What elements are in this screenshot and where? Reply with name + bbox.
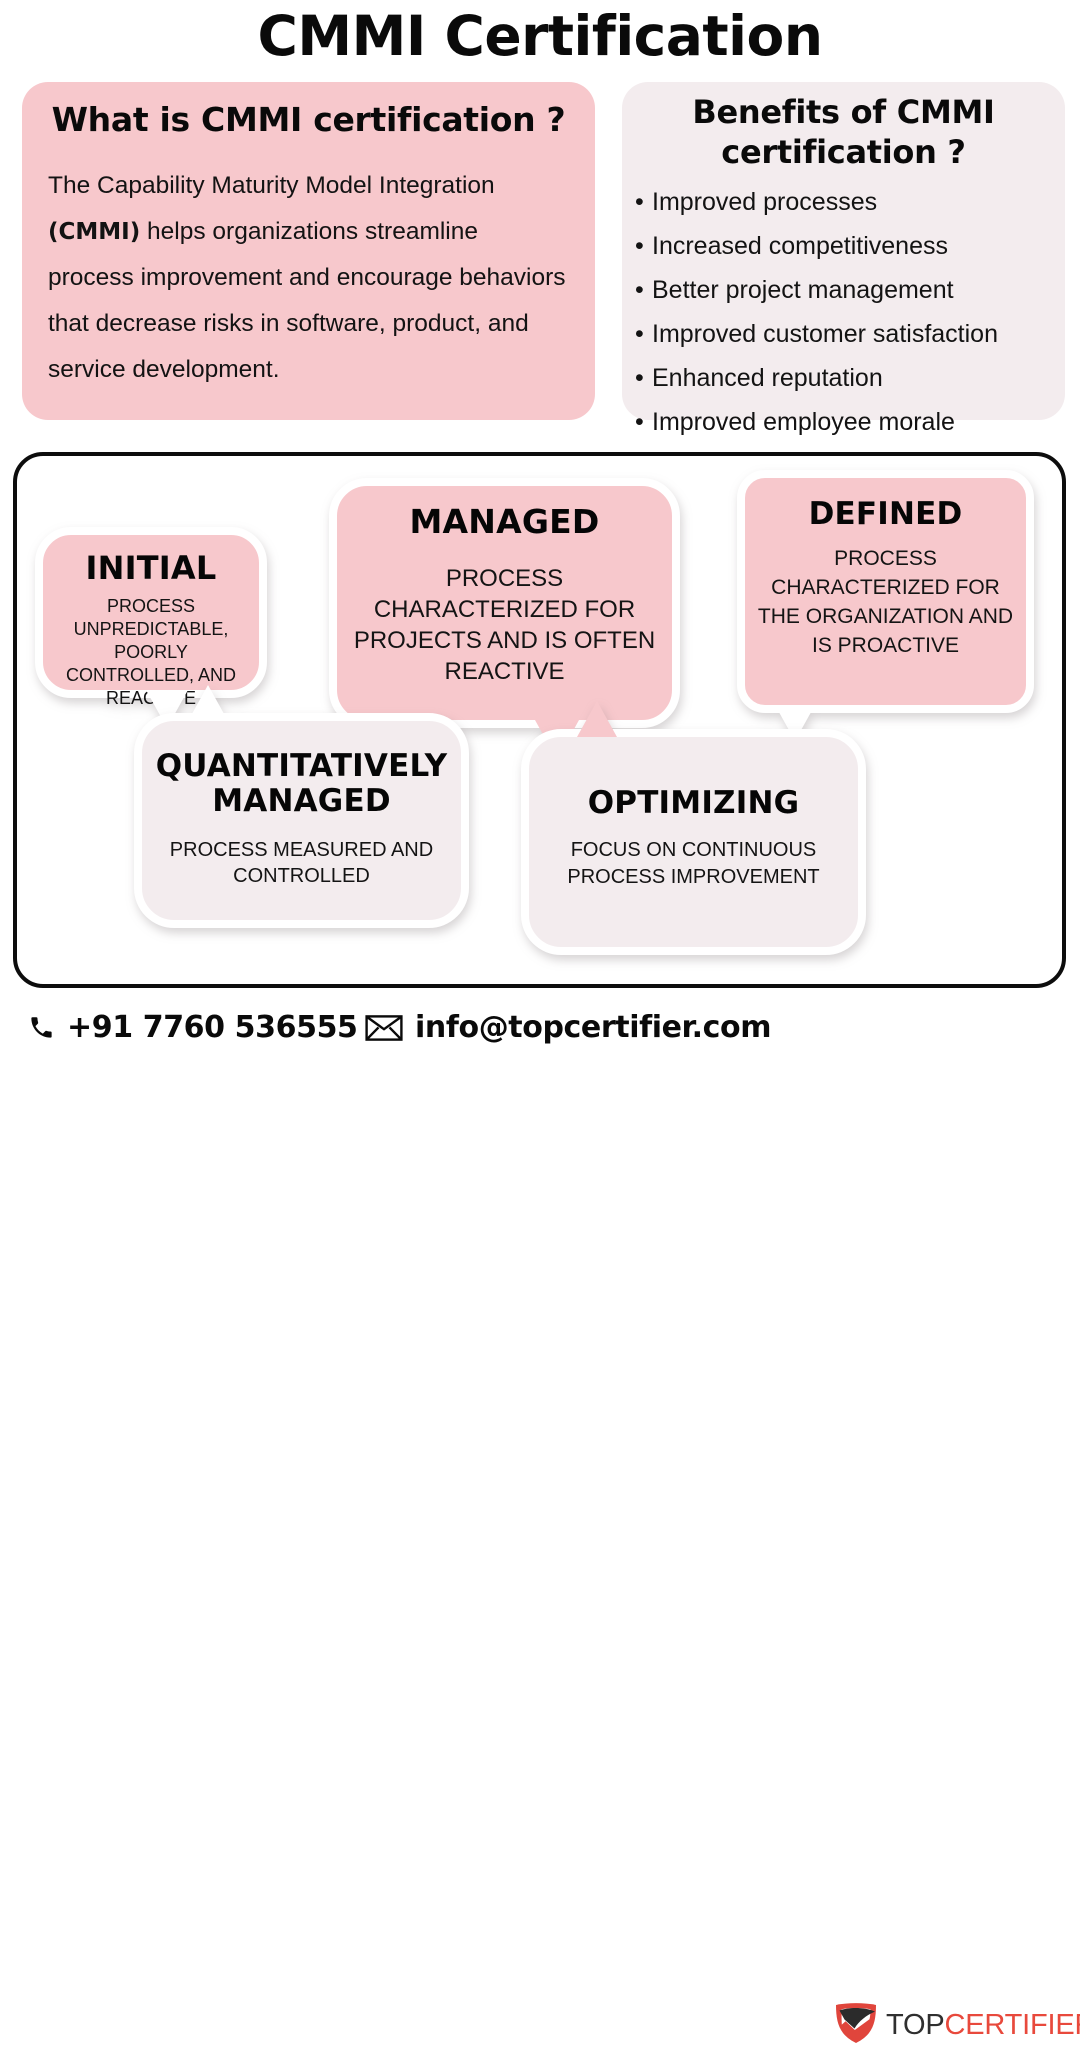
envelope-icon [365,1014,403,1042]
benefits-list: •Improved processes •Increased competiti… [630,180,1057,444]
what-is-cmmi-card: What is CMMI certification ? The Capabil… [22,82,595,420]
list-item: •Increased competitiveness [630,224,1057,268]
email-address: info@topcertifier.com [415,1010,771,1045]
stage-title-quantitatively-managed: QUANTITATIVELY MANAGED [152,749,451,819]
list-item: •Better project management [630,268,1057,312]
cmmi-abbreviation: (CMMI) [48,219,140,245]
stage-bubble-optimizing: OPTIMIZING FOCUS ON CONTINUOUS PROCESS I… [521,729,866,955]
benefits-card: Benefits of CMMI certification ? •Improv… [622,82,1065,420]
stage-bubble-managed: MANAGED PROCESS CHARACTERIZED FOR PROJEC… [329,478,680,728]
stage-body-quantitatively-managed: PROCESS MEASURED AND CONTROLLED [152,837,451,889]
list-item-label: Better project management [652,276,954,304]
logo-word-top: TOP [886,2009,945,2041]
stage-title-optimizing: OPTIMIZING [539,785,848,821]
stage-title-defined: DEFINED [753,496,1018,532]
stage-bubble-initial: INITIAL PROCESS UNPREDICTABLE, POORLY CO… [35,527,267,698]
footer: +91 7760 536555 info@topcertifier.com TO… [0,996,1080,1080]
bullet-icon: • [635,180,644,224]
stage-body-managed: PROCESS CHARACTERIZED FOR PROJECTS AND I… [347,563,662,687]
list-item-label: Increased competitiveness [652,232,948,260]
list-item: •Improved processes [630,180,1057,224]
what-is-cmmi-heading: What is CMMI certification ? [48,100,569,139]
bullet-icon: • [635,400,644,444]
list-item-label: Enhanced reputation [652,364,883,392]
contact-email[interactable]: info@topcertifier.com [365,1010,771,1045]
list-item-label: Improved customer satisfaction [652,320,998,348]
shield-check-icon [832,2000,880,2051]
list-item: •Enhanced reputation [630,356,1057,400]
what-is-cmmi-body: The Capability Maturity Model Integratio… [48,163,569,393]
stage-bubble-quantitatively-managed: QUANTITATIVELY MANAGED PROCESS MEASURED … [134,713,469,928]
bullet-icon: • [635,224,644,268]
list-item-label: Improved employee morale [652,408,955,436]
body-text-part1: The Capability Maturity Model Integratio… [48,172,495,199]
phone-icon [28,1014,55,1041]
bubble-tail-icon [188,685,228,721]
contact-phone[interactable]: +91 7760 536555 [28,1010,358,1045]
list-item: •Improved employee morale [630,400,1057,444]
bullet-icon: • [635,356,644,400]
list-item-label: Improved processes [652,188,877,216]
logo-wordmark: TOPCERTIFIER [886,2009,1080,2042]
stage-body-optimizing: FOCUS ON CONTINUOUS PROCESS IMPROVEMENT [539,837,848,891]
benefits-heading: Benefits of CMMI certification ? [630,92,1057,172]
stage-body-defined: PROCESS CHARACTERIZED FOR THE ORGANIZATI… [753,544,1018,660]
logo-word-certifier: CERTIFIER [945,2009,1080,2041]
bullet-icon: • [635,312,644,356]
stage-title-managed: MANAGED [347,502,662,541]
list-item: •Improved customer satisfaction [630,312,1057,356]
page-title: CMMI Certification [0,4,1080,68]
phone-number: +91 7760 536555 [67,1010,358,1045]
stage-title-initial: INITIAL [49,549,253,587]
bubble-tail-icon [577,701,617,737]
bullet-icon: • [635,268,644,312]
topcertifier-logo[interactable]: TOPCERTIFIER [832,2000,1080,2051]
stage-bubble-defined: DEFINED PROCESS CHARACTERIZED FOR THE OR… [737,470,1034,713]
